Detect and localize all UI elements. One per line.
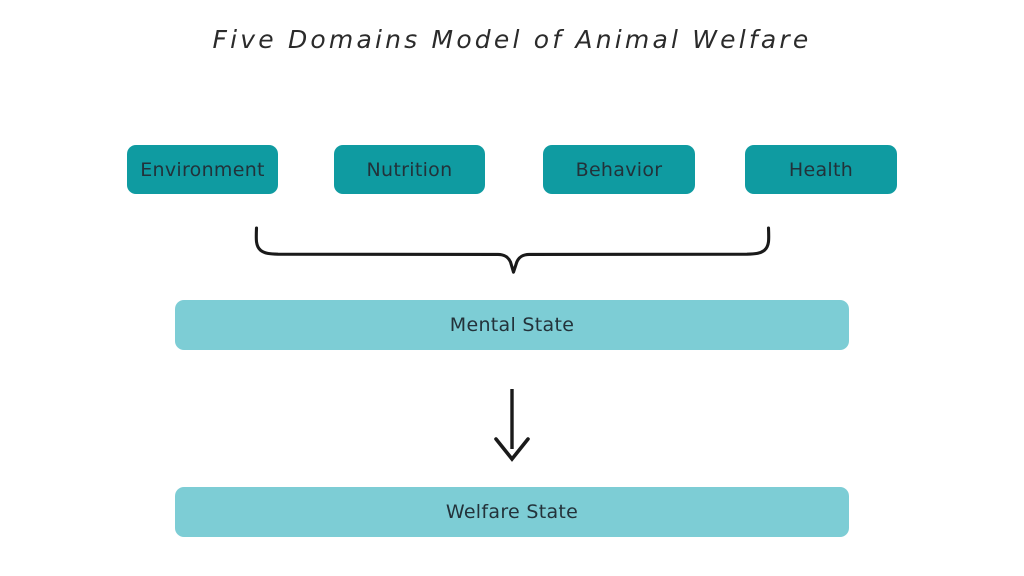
state-bar-label: Welfare State bbox=[446, 501, 578, 523]
state-bar-welfare-state[interactable]: Welfare State bbox=[175, 487, 849, 537]
domain-box-health[interactable]: Health bbox=[745, 145, 897, 194]
arrow-down-icon bbox=[487, 383, 537, 465]
domain-box-label: Health bbox=[789, 159, 853, 181]
domain-box-environment[interactable]: Environment bbox=[127, 145, 278, 194]
page-title: Five Domains Model of Animal Welfare bbox=[0, 25, 1024, 54]
domain-box-label: Nutrition bbox=[367, 159, 453, 181]
domain-box-behavior[interactable]: Behavior bbox=[543, 145, 695, 194]
curly-brace-icon bbox=[240, 218, 785, 280]
state-bar-label: Mental State bbox=[450, 314, 574, 336]
state-bar-mental-state[interactable]: Mental State bbox=[175, 300, 849, 350]
domain-box-label: Environment bbox=[140, 159, 265, 181]
domain-box-nutrition[interactable]: Nutrition bbox=[334, 145, 485, 194]
diagram-canvas: Five Domains Model of Animal Welfare Env… bbox=[0, 0, 1024, 576]
domain-box-label: Behavior bbox=[576, 159, 663, 181]
